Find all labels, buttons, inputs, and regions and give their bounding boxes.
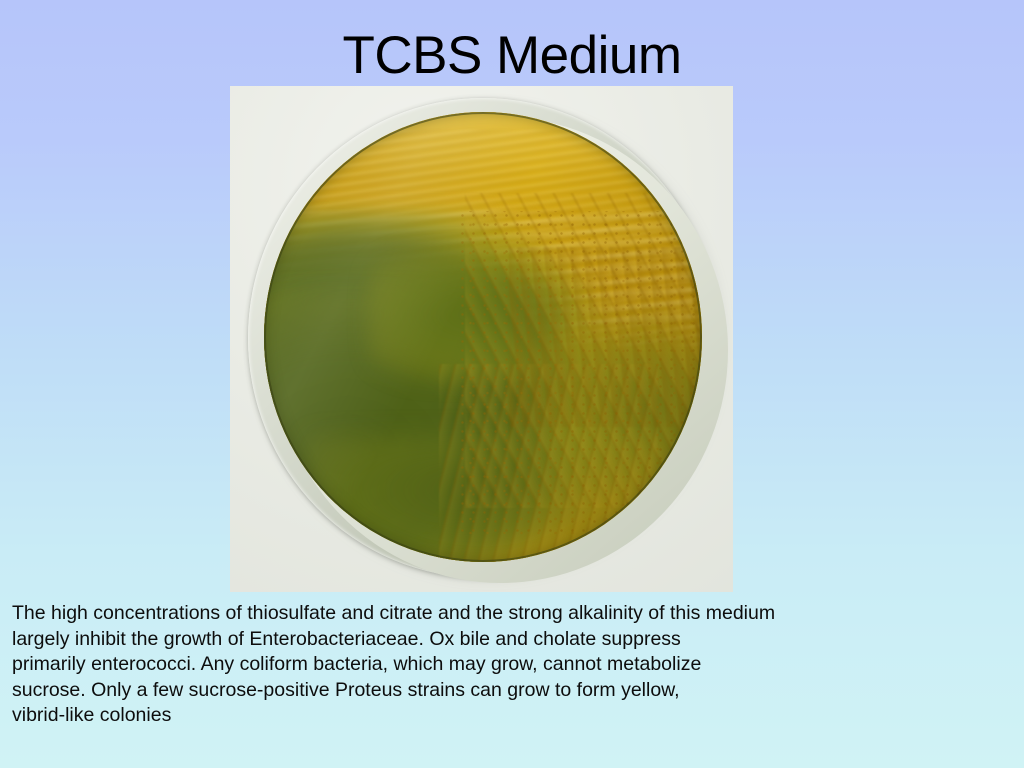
agar-surface — [264, 112, 702, 562]
slide-canvas: TCBS Medium The high conce — [0, 0, 1024, 768]
page-title: TCBS Medium — [0, 26, 1024, 86]
petri-dish-photo — [230, 86, 733, 592]
slide-body-text: The high concentrations of thiosulfate a… — [12, 601, 1012, 729]
colony-speckle — [457, 211, 702, 535]
